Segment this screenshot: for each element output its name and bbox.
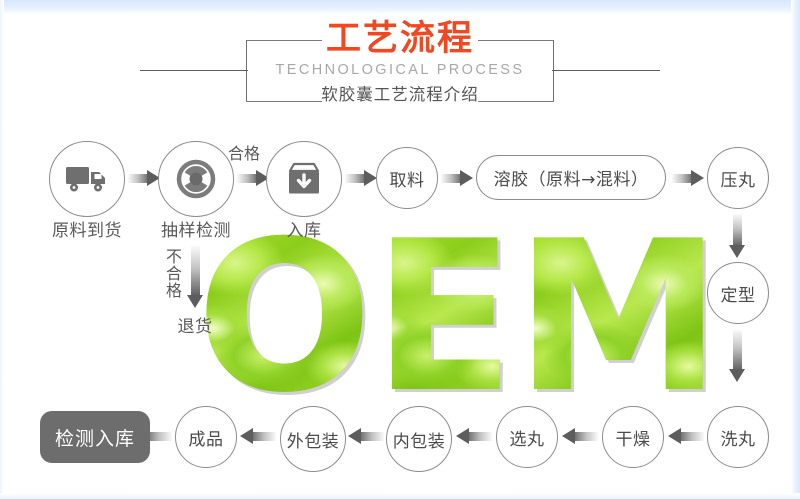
label-washing-pill: 洗丸 xyxy=(721,425,756,450)
inbox-down-icon xyxy=(284,161,324,197)
arrow-take-material-to-gel xyxy=(441,170,473,187)
arrow-inspection-to-return xyxy=(187,246,204,308)
bottom-tint-band xyxy=(0,493,800,499)
arrow-inner-to-outer-pack xyxy=(348,428,384,445)
watermark-letter-e: E xyxy=(373,232,515,404)
label-gel-dissolving: 溶胶（原料→混料） xyxy=(494,165,649,190)
arrow-warehouse-to-take-material xyxy=(345,170,377,187)
node-sampling-inspection[interactable] xyxy=(158,141,234,217)
edge-label-pass: 合格 xyxy=(228,140,260,164)
node-pressing-pill[interactable]: 压丸 xyxy=(707,147,769,209)
header-text-block: 工艺流程 TECHNOLOGICAL PROCESS 软胶囊工艺流程介绍 xyxy=(242,18,558,108)
node-gel-dissolving[interactable]: 溶胶（原料→混料） xyxy=(476,155,666,200)
arrow-drying-to-selecting xyxy=(562,428,598,445)
node-drying[interactable]: 干燥 xyxy=(602,406,664,468)
header-left-rule xyxy=(140,70,248,71)
label-shaping: 定型 xyxy=(721,281,756,306)
truck-icon xyxy=(65,164,109,194)
node-outer-packaging[interactable]: 外包装 xyxy=(280,406,346,472)
arrow-pressing-to-shaping xyxy=(729,214,746,258)
arrow-outer-pack-to-finished xyxy=(240,428,276,445)
label-outer-packaging: 外包装 xyxy=(287,427,340,452)
header: 工艺流程 TECHNOLOGICAL PROCESS 软胶囊工艺流程介绍 xyxy=(0,18,800,116)
label-selecting-pill: 选丸 xyxy=(510,425,545,450)
inspection-icon xyxy=(174,157,218,201)
label-drying: 干燥 xyxy=(616,425,651,450)
node-take-material[interactable]: 取料 xyxy=(376,147,438,209)
flowchart-poster: 工艺流程 TECHNOLOGICAL PROCESS 软胶囊工艺流程介绍 O E… xyxy=(0,0,800,499)
oem-watermark: O E M xyxy=(196,232,706,408)
node-inner-packaging[interactable]: 内包装 xyxy=(386,406,452,472)
label-inspect-and-stock: 检测入库 xyxy=(55,424,135,451)
node-selecting-pill[interactable]: 选丸 xyxy=(496,406,558,468)
arrow-washing-to-drying xyxy=(668,428,704,445)
arrow-shaping-to-washing xyxy=(729,330,746,382)
page-title: 工艺流程 xyxy=(242,18,558,60)
node-raw-material-arrival[interactable] xyxy=(49,141,125,217)
arrow-gel-to-pressing xyxy=(672,170,704,187)
node-shaping[interactable]: 定型 xyxy=(707,262,769,324)
label-take-material: 取料 xyxy=(390,166,425,191)
label-return-goods: 退货 xyxy=(155,312,235,337)
watermark-letter-m: M xyxy=(515,232,722,404)
label-warehouse-in: 入库 xyxy=(254,216,354,241)
arrow-inspection-to-warehouse xyxy=(237,170,269,187)
label-raw-material-arrival: 原料到货 xyxy=(29,216,145,241)
arrow-arrival-to-inspection xyxy=(128,170,160,187)
label-pressing-pill: 压丸 xyxy=(721,166,756,191)
edge-label-fail: 不合格 xyxy=(160,248,184,299)
node-inspect-and-stock[interactable]: 检测入库 xyxy=(40,411,150,463)
node-finished-product[interactable]: 成品 xyxy=(175,406,237,468)
label-inner-packaging: 内包装 xyxy=(393,427,446,452)
label-finished-product: 成品 xyxy=(189,425,224,450)
header-right-rule xyxy=(552,70,660,71)
arrow-selecting-to-inner-pack xyxy=(456,428,492,445)
page-subtitle-en: TECHNOLOGICAL PROCESS xyxy=(242,60,558,80)
label-sampling-inspection: 抽样检测 xyxy=(138,216,254,241)
node-warehouse-in[interactable] xyxy=(266,141,342,217)
node-washing-pill[interactable]: 洗丸 xyxy=(707,406,769,468)
page-subtitle-cn: 软胶囊工艺流程介绍 xyxy=(242,82,558,108)
top-tint-band xyxy=(0,0,800,14)
